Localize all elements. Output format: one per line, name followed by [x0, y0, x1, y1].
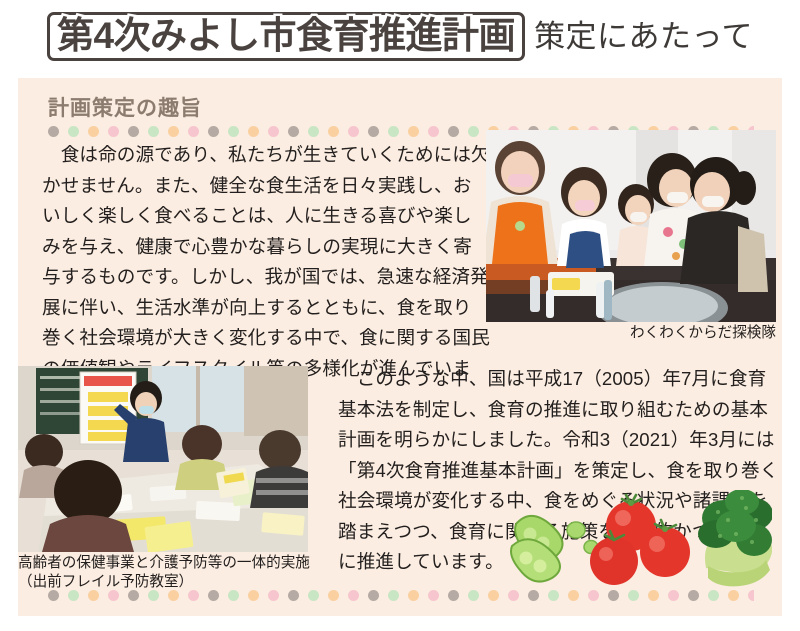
vegetable-illustration [510, 490, 772, 590]
decorative-dot [168, 590, 179, 601]
decorative-dot [668, 590, 679, 601]
decorative-dot [308, 126, 319, 137]
decorative-dot [588, 590, 599, 601]
decorative-dot [688, 590, 699, 601]
decorative-dot [168, 126, 179, 137]
page-title-boxed: 第4次みよし市食育推進計画 [47, 12, 525, 61]
decorative-dot [308, 590, 319, 601]
decorative-dot [88, 590, 99, 601]
decorative-dot [208, 126, 219, 137]
decorative-dot [728, 590, 739, 601]
decorative-dot [128, 590, 139, 601]
decorative-dot [148, 126, 159, 137]
decorative-dot [288, 126, 299, 137]
decorative-dot [748, 590, 754, 601]
tomato-icon [590, 495, 690, 585]
page-title-suffix: 策定にあたって [534, 21, 753, 52]
decorative-dot [488, 590, 499, 601]
vegetables-svg [510, 490, 772, 590]
decorative-dot [468, 126, 479, 137]
decorative-dot [408, 126, 419, 137]
decorative-dot [188, 590, 199, 601]
decorative-dot [328, 590, 339, 601]
decorative-dot [608, 590, 619, 601]
decorative-dot [148, 590, 159, 601]
decorative-dot [228, 126, 239, 137]
decorative-dot [388, 590, 399, 601]
decorative-dot [428, 126, 439, 137]
decorative-dot [268, 590, 279, 601]
decorative-dot [408, 590, 419, 601]
decorative-dot [108, 126, 119, 137]
decorative-dot [628, 590, 639, 601]
decorative-dot [368, 590, 379, 601]
decorative-dot [48, 126, 59, 137]
decorative-dot [428, 590, 439, 601]
decorative-dot [448, 126, 459, 137]
decorative-dot [528, 590, 539, 601]
decorative-dot [648, 590, 659, 601]
decorative-dot [188, 126, 199, 137]
caption-cooking-class: わくわくからだ探検隊 [486, 324, 776, 343]
decorative-dot [208, 590, 219, 601]
decorative-dot [548, 590, 559, 601]
decorative-dot [88, 126, 99, 137]
decorative-dot [448, 590, 459, 601]
photo-health-class [18, 366, 308, 552]
decorative-dot [268, 126, 279, 137]
decorative-dot [468, 590, 479, 601]
decorative-dot [128, 126, 139, 137]
decorative-dot [288, 590, 299, 601]
broccoli-icon [698, 490, 772, 586]
decorative-dot [108, 590, 119, 601]
health-class-illustration [18, 366, 308, 552]
decorative-dot [228, 590, 239, 601]
page-title-banner: 第4次みよし市食育推進計画 策定にあたって [0, 0, 800, 72]
decorative-dot [368, 126, 379, 137]
section-heading: 計画策定の趣旨 [48, 92, 202, 122]
decorative-dot [388, 126, 399, 137]
decorative-dot [48, 590, 59, 601]
decorative-dot [248, 126, 259, 137]
decorative-dot [508, 590, 519, 601]
decorative-dot [708, 590, 719, 601]
cooking-class-illustration [486, 130, 776, 322]
dotted-divider-bottom [48, 590, 754, 601]
caption-health-class: 高齢者の保健事業と介護予防等の一体的実施 （出前フレイル予防教室） [18, 554, 348, 592]
photo-cooking-class [486, 130, 776, 322]
decorative-dot [68, 126, 79, 137]
content-panel: 計画策定の趣旨 食は命の源であり、私たちが生きていくためには欠かせません。また、… [18, 78, 782, 616]
decorative-dot [248, 590, 259, 601]
decorative-dot [68, 590, 79, 601]
decorative-dot [348, 590, 359, 601]
decorative-dot [568, 590, 579, 601]
decorative-dot [348, 126, 359, 137]
decorative-dot [328, 126, 339, 137]
edamame-icon [511, 516, 598, 582]
